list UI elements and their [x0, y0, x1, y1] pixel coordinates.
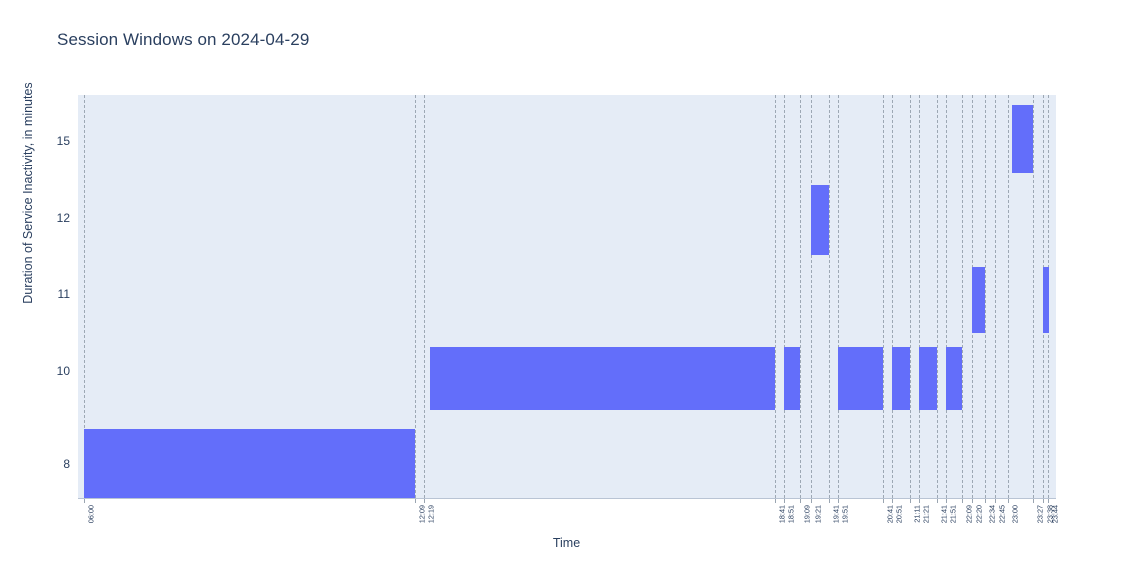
gridline — [775, 95, 776, 498]
x-tick-mark — [1043, 499, 1044, 503]
x-tick-mark — [775, 499, 776, 503]
x-tick-mark — [811, 499, 812, 503]
gridline — [800, 95, 801, 498]
x-tick-mark — [1008, 499, 1009, 503]
y-tick-label: 10 — [0, 364, 70, 378]
x-tick-label: 21:41 — [940, 505, 949, 523]
session-bar[interactable] — [430, 347, 775, 410]
x-axis-title: Time — [0, 536, 1133, 550]
x-tick-label: 23:27 — [1036, 505, 1045, 523]
gridline — [883, 95, 884, 498]
chart-root: Session Windows on 2024-04-29 Duration o… — [0, 0, 1133, 581]
x-tick-mark — [883, 499, 884, 503]
y-tick-label: 8 — [0, 457, 70, 471]
x-tick-label: 06:00 — [87, 505, 96, 523]
x-tick-label: 22:45 — [998, 505, 1007, 523]
x-tick-label: 18:41 — [778, 505, 787, 523]
gridline — [892, 95, 893, 498]
x-tick-label: 23:00 — [1011, 505, 1020, 523]
x-tick-label: 19:09 — [803, 505, 812, 523]
x-tick-label: 22:09 — [965, 505, 974, 523]
x-tick-label: 21:21 — [922, 505, 931, 523]
x-tick-mark — [800, 499, 801, 503]
x-tick-label: 21:11 — [913, 505, 922, 523]
session-bar[interactable] — [946, 347, 962, 410]
y-tick-label: 15 — [0, 134, 70, 148]
y-tick-label: 12 — [0, 211, 70, 225]
x-tick-mark — [919, 499, 920, 503]
gridline — [910, 95, 911, 498]
x-tick-label: 21:51 — [949, 505, 958, 523]
x-tick-mark — [415, 499, 416, 503]
x-tick-mark — [962, 499, 963, 503]
x-tick-mark — [946, 499, 947, 503]
x-tick-label: 23:44 — [1051, 505, 1060, 523]
x-tick-mark — [892, 499, 893, 503]
session-bar[interactable] — [838, 347, 883, 410]
x-tick-mark — [995, 499, 996, 503]
x-tick-label: 12:19 — [427, 505, 436, 523]
gridline — [985, 95, 986, 498]
x-tick-label: 22:20 — [975, 505, 984, 523]
session-bar[interactable] — [784, 347, 800, 410]
x-tick-label: 19:21 — [814, 505, 823, 523]
x-tick-label: 19:51 — [841, 505, 850, 523]
y-axis-title: Duration of Service Inactivity, in minut… — [21, 13, 35, 373]
gridline — [937, 95, 938, 498]
chart-title: Session Windows on 2024-04-29 — [57, 30, 309, 50]
x-tick-mark — [910, 499, 911, 503]
gridline — [919, 95, 920, 498]
gridline — [811, 95, 812, 498]
gridline — [946, 95, 947, 498]
x-tick-mark — [84, 499, 85, 503]
session-bar[interactable] — [972, 267, 985, 333]
x-tick-mark — [972, 499, 973, 503]
x-tick-mark — [985, 499, 986, 503]
gridline — [1008, 95, 1009, 498]
gridline — [784, 95, 785, 498]
session-bar[interactable] — [1012, 105, 1033, 173]
x-tick-label: 20:51 — [895, 505, 904, 523]
x-tick-mark — [1048, 499, 1049, 503]
gridline — [1033, 95, 1034, 498]
x-tick-label: 18:51 — [787, 505, 796, 523]
x-tick-mark — [424, 499, 425, 503]
session-bar[interactable] — [1043, 267, 1049, 333]
x-tick-label: 19:41 — [832, 505, 841, 523]
session-bar[interactable] — [811, 185, 829, 255]
gridline — [424, 95, 425, 498]
plot-area — [78, 95, 1056, 498]
gridline — [962, 95, 963, 498]
session-bar[interactable] — [84, 429, 415, 498]
x-tick-mark — [838, 499, 839, 503]
session-bar[interactable] — [892, 347, 910, 410]
gridline — [838, 95, 839, 498]
gridline — [995, 95, 996, 498]
x-tick-mark — [784, 499, 785, 503]
x-tick-mark — [829, 499, 830, 503]
x-tick-label: 20:41 — [886, 505, 895, 523]
x-tick-label: 12:09 — [418, 505, 427, 523]
gridline — [415, 95, 416, 498]
x-tick-label: 22:34 — [988, 505, 997, 523]
y-tick-label: 11 — [0, 287, 70, 301]
session-bar[interactable] — [919, 347, 937, 410]
x-tick-mark — [1033, 499, 1034, 503]
x-tick-mark — [937, 499, 938, 503]
gridline — [829, 95, 830, 498]
